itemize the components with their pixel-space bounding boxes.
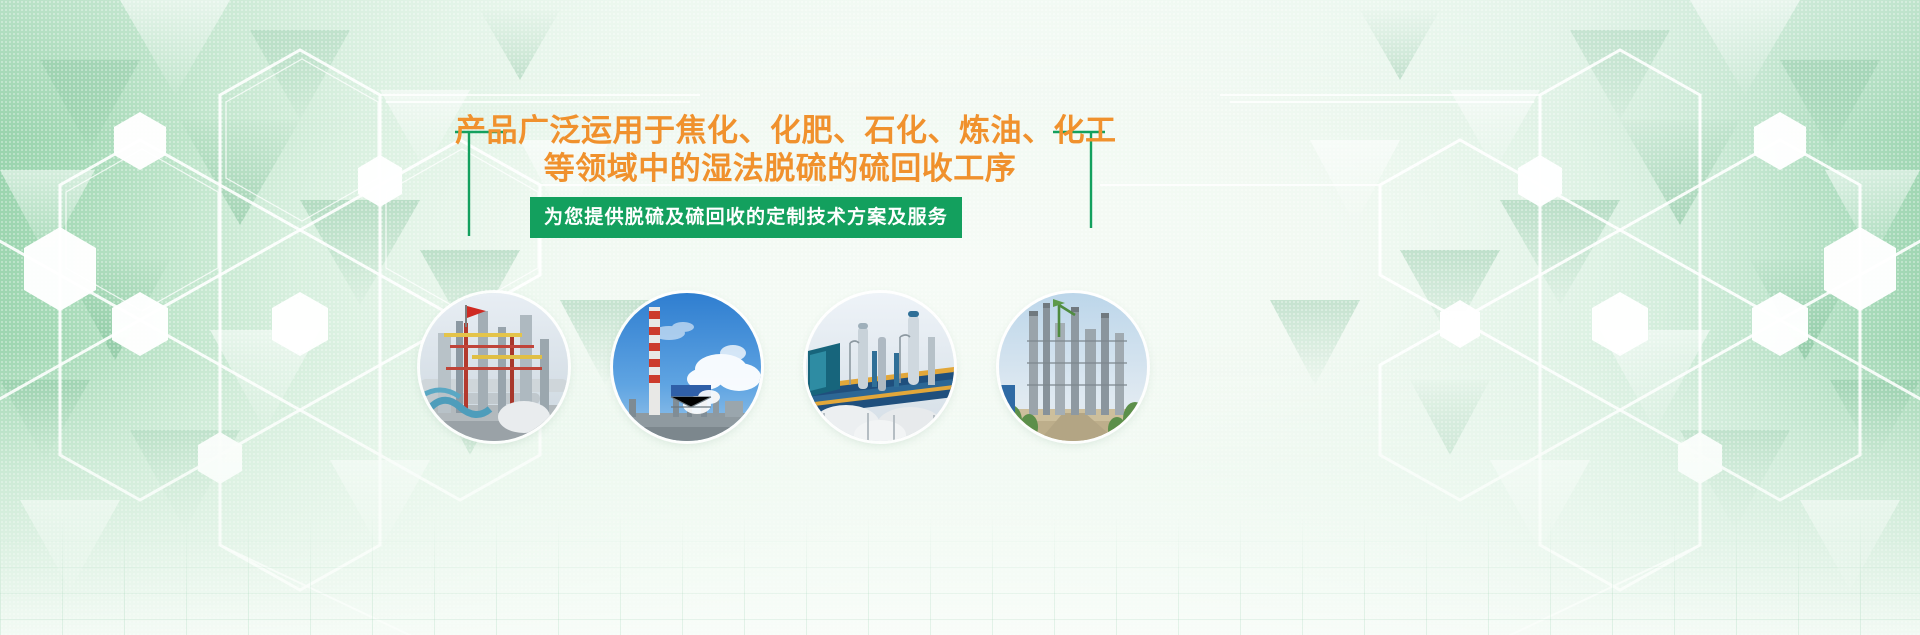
- headline-line-1: 产品广泛运用于焦化、化肥、石化、炼油、化工: [455, 112, 1105, 150]
- photo-chimney-stack-plant-image: [613, 293, 761, 441]
- photo-sulfur-recovery-plant[interactable]: [420, 293, 568, 441]
- headline-line-2: 等领域中的湿法脱硫的硫回收工序: [455, 150, 1105, 188]
- subtitle-bar: 为您提供脱硫及硫回收的定制技术方案及服务: [530, 197, 962, 238]
- photo-refinery-tanks[interactable]: [806, 293, 954, 441]
- photo-sulfur-recovery-plant-image: [420, 293, 568, 441]
- photo-distillation-columns[interactable]: [999, 293, 1147, 441]
- photo-refinery-tanks-image: [806, 293, 954, 441]
- photo-gallery: [420, 293, 1160, 441]
- photo-distillation-columns-image: [999, 293, 1147, 441]
- banner-content: 产品广泛运用于焦化、化肥、石化、炼油、化工 等领域中的湿法脱硫的硫回收工序 为您…: [0, 0, 1920, 635]
- photo-chimney-stack-plant[interactable]: [613, 293, 761, 441]
- headline: 产品广泛运用于焦化、化肥、石化、炼油、化工 等领域中的湿法脱硫的硫回收工序: [455, 112, 1105, 188]
- hero-banner: 产品广泛运用于焦化、化肥、石化、炼油、化工 等领域中的湿法脱硫的硫回收工序 为您…: [0, 0, 1920, 635]
